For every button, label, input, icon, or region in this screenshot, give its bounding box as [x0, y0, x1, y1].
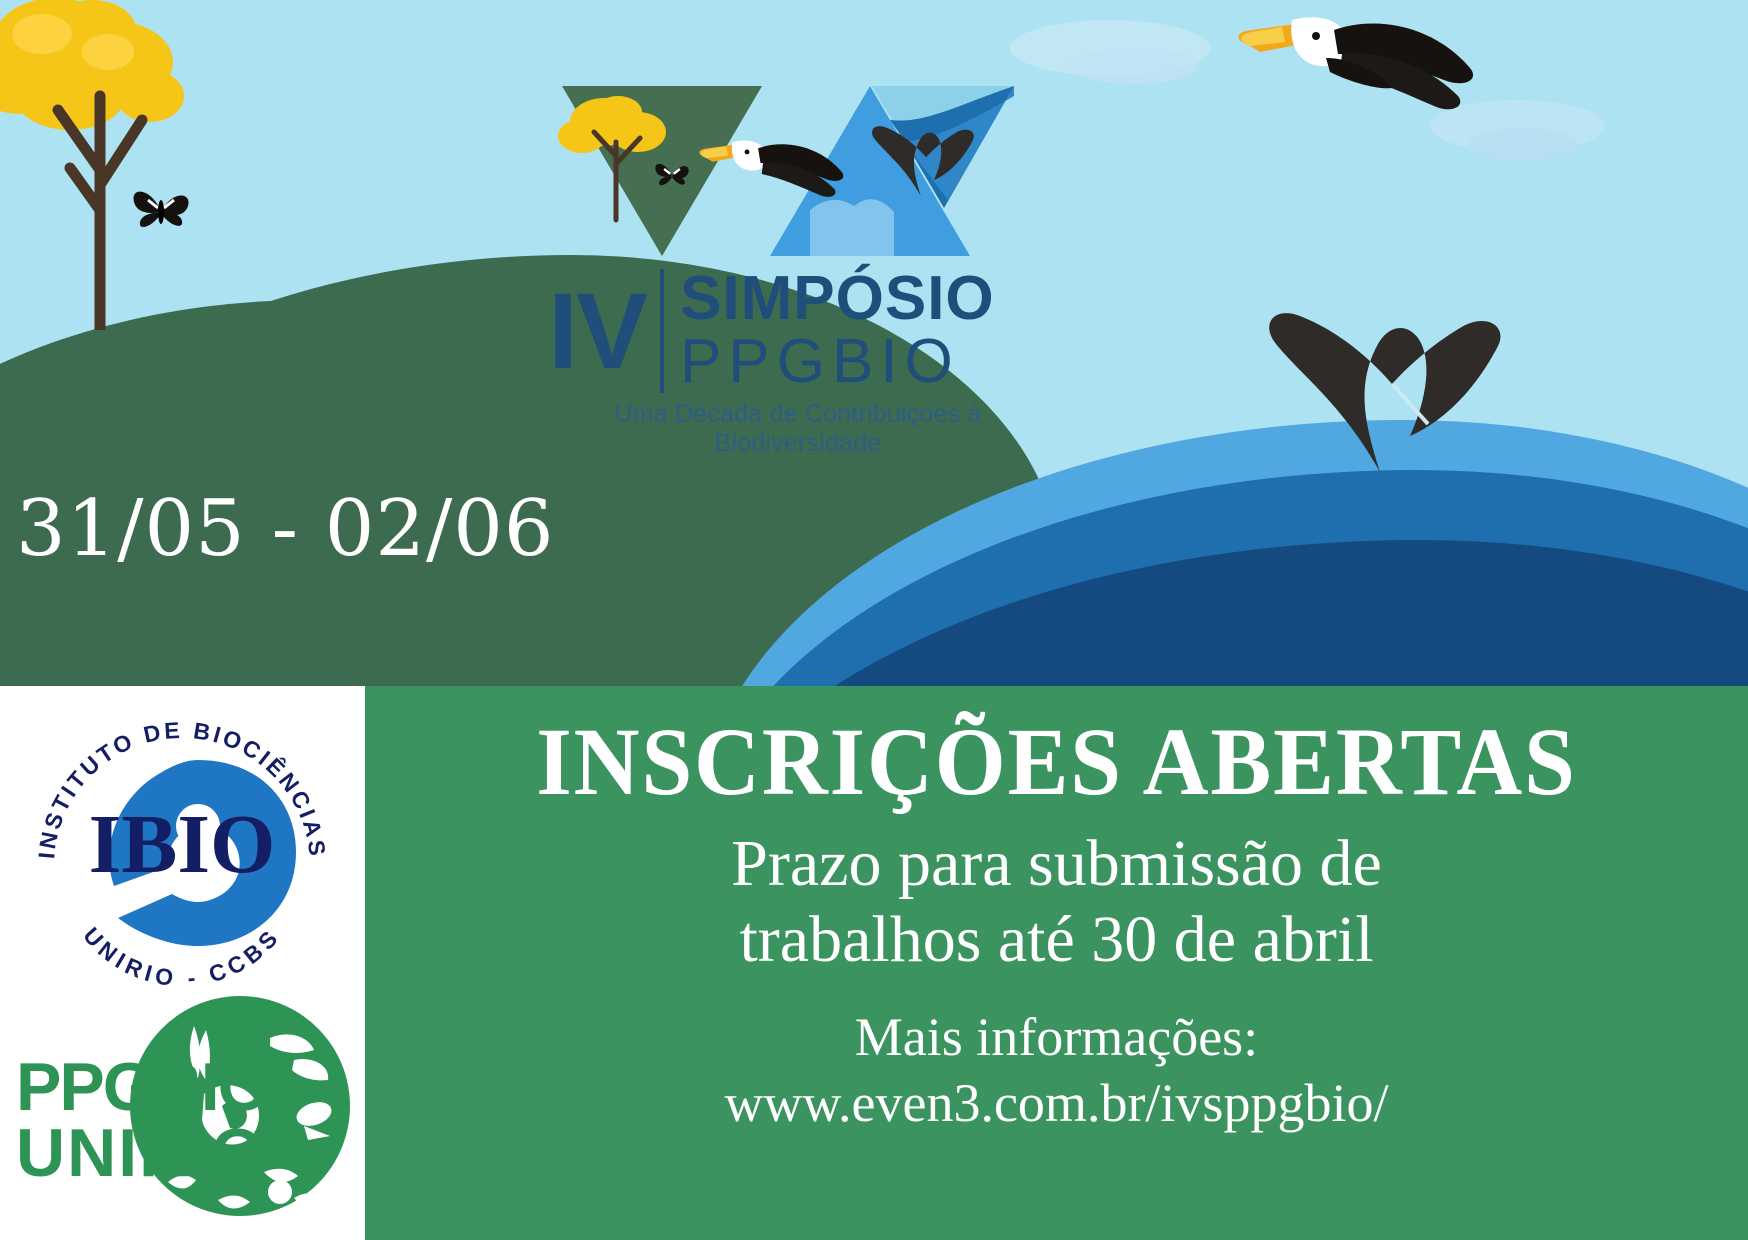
toucan-flying-icon — [1230, 10, 1490, 160]
logo-word-ppgbio: PPGBIO — [680, 330, 995, 394]
ibio-logo: IBIO INSTITUTO DE BIOCIÊNCIAS UNIRIO - C… — [22, 696, 342, 996]
butterfly-icon — [128, 182, 194, 238]
ibio-acronym: IBIO — [89, 798, 276, 891]
ppgbio-logo-mark — [552, 80, 1022, 260]
yellow-ipe-tree-icon — [0, 0, 210, 330]
bottom-green-panel: IBIO INSTITUTO DE BIOCIÊNCIAS UNIRIO - C… — [0, 686, 1748, 1240]
submission-deadline-line2: trabalhos até 30 de abril — [365, 902, 1748, 978]
ppgbio-unirio-logo: PPGBIO UNIRIO — [8, 986, 358, 1236]
whale-tail-icon — [1260, 272, 1510, 472]
logo-edition-number: IV — [548, 279, 660, 383]
logo-word-simposio: SIMPÓSIO — [680, 268, 995, 330]
ppgbio-wordmark: IV SIMPÓSIO PPGBIO Uma Década de Contrib… — [548, 268, 1068, 458]
headline-inscricoes-abertas: INSCRIÇÕES ABERTAS — [400, 710, 1714, 814]
ppgbio-logo-line2: UNIRIO — [16, 1115, 266, 1191]
logo-tagline: Uma Década de Contribuiçoes à Biodiversi… — [548, 400, 1048, 458]
logo-divider-bar — [660, 269, 664, 393]
ppgbio-logo-line1: PPGBIO — [16, 1049, 269, 1125]
poster-root: IV SIMPÓSIO PPGBIO Uma Década de Contrib… — [0, 0, 1748, 1240]
event-date-range: 31/05 - 02/06 — [16, 484, 555, 574]
institution-logo-column: IBIO INSTITUTO DE BIOCIÊNCIAS UNIRIO - C… — [0, 686, 365, 1240]
event-url[interactable]: www.even3.com.br/ivsppgbio/ — [365, 1070, 1748, 1136]
toucan-flying-icon — [699, 140, 843, 196]
scene-illustration: IV SIMPÓSIO PPGBIO Uma Década de Contrib… — [0, 0, 1748, 690]
more-info-label: Mais informações: — [365, 1004, 1748, 1070]
cloud-icon — [1070, 48, 1200, 84]
submission-deadline-line1: Prazo para submissão de — [365, 826, 1748, 902]
announcement-block: INSCRIÇÕES ABERTAS Prazo para submissão … — [365, 686, 1748, 1240]
